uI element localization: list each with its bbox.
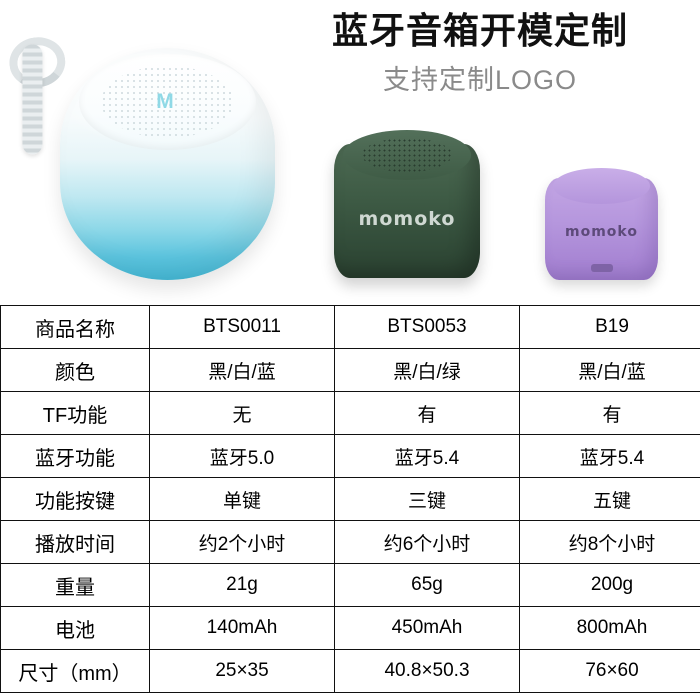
cell-value: 140mAh (150, 607, 335, 650)
cell-value: 约2个小时 (150, 521, 335, 564)
cell-value: BTS0011 (150, 306, 335, 349)
table-row: 重量 21g 65g 200g (1, 564, 700, 607)
speaker-grill (362, 138, 452, 172)
row-label: 商品名称 (1, 306, 150, 349)
row-label: TF功能 (1, 392, 150, 435)
row-label: 播放时间 (1, 521, 150, 564)
cell-value: 450mAh (335, 607, 520, 650)
row-label: 蓝牙功能 (1, 435, 150, 478)
cell-value: 黑/白/蓝 (520, 349, 700, 392)
product-spec-poster: 蓝牙音箱开模定制 支持定制LOGO M momoko momoko (0, 0, 700, 700)
cell-value: 200g (520, 564, 700, 607)
cell-value: 21g (150, 564, 335, 607)
row-label: 功能按键 (1, 478, 150, 521)
cell-value: 蓝牙5.0 (150, 435, 335, 478)
brand-logo-text: momoko (334, 208, 480, 230)
cell-value: 三键 (335, 478, 520, 521)
cell-value: 40.8×50.3 (335, 650, 520, 693)
row-label: 重量 (1, 564, 150, 607)
brand-logo-text: momoko (545, 224, 658, 240)
table-row: TF功能 无 有 有 (1, 392, 700, 435)
cell-value: 约6个小时 (335, 521, 520, 564)
cell-value: 25×35 (150, 650, 335, 693)
product-image-bts0011: M (60, 48, 275, 280)
charging-port (591, 264, 613, 272)
row-label: 电池 (1, 607, 150, 650)
cell-value: 800mAh (520, 607, 700, 650)
strap-band (22, 44, 42, 154)
product-photo-area: M momoko momoko (0, 0, 700, 305)
cell-value: B19 (520, 306, 700, 349)
product-image-bts0053: momoko (334, 130, 480, 278)
cell-value: 约8个小时 (520, 521, 700, 564)
table-row: 尺寸（mm） 25×35 40.8×50.3 76×60 (1, 650, 700, 693)
speaker-top-face (553, 168, 650, 204)
brand-logo-mark: M (152, 90, 178, 114)
product-image-b19: momoko (545, 168, 658, 280)
row-label: 尺寸（mm） (1, 650, 150, 693)
cell-value: 蓝牙5.4 (520, 435, 700, 478)
cell-value: BTS0053 (335, 306, 520, 349)
table-row: 电池 140mAh 450mAh 800mAh (1, 607, 700, 650)
cell-value: 黑/白/绿 (335, 349, 520, 392)
cell-value: 黑/白/蓝 (150, 349, 335, 392)
cell-value: 蓝牙5.4 (335, 435, 520, 478)
cell-value: 76×60 (520, 650, 700, 693)
table-row: 播放时间 约2个小时 约6个小时 约8个小时 (1, 521, 700, 564)
row-label: 颜色 (1, 349, 150, 392)
table-row: 颜色 黑/白/蓝 黑/白/绿 黑/白/蓝 (1, 349, 700, 392)
table-row: 蓝牙功能 蓝牙5.0 蓝牙5.4 蓝牙5.4 (1, 435, 700, 478)
cell-value: 单键 (150, 478, 335, 521)
cell-value: 五键 (520, 478, 700, 521)
specification-table: 商品名称 BTS0011 BTS0053 B19 颜色 黑/白/蓝 黑/白/绿 … (0, 305, 700, 693)
cell-value: 有 (335, 392, 520, 435)
table-row: 功能按键 单键 三键 五键 (1, 478, 700, 521)
table-row: 商品名称 BTS0011 BTS0053 B19 (1, 306, 700, 349)
cell-value: 有 (520, 392, 700, 435)
cell-value: 65g (335, 564, 520, 607)
cell-value: 无 (150, 392, 335, 435)
